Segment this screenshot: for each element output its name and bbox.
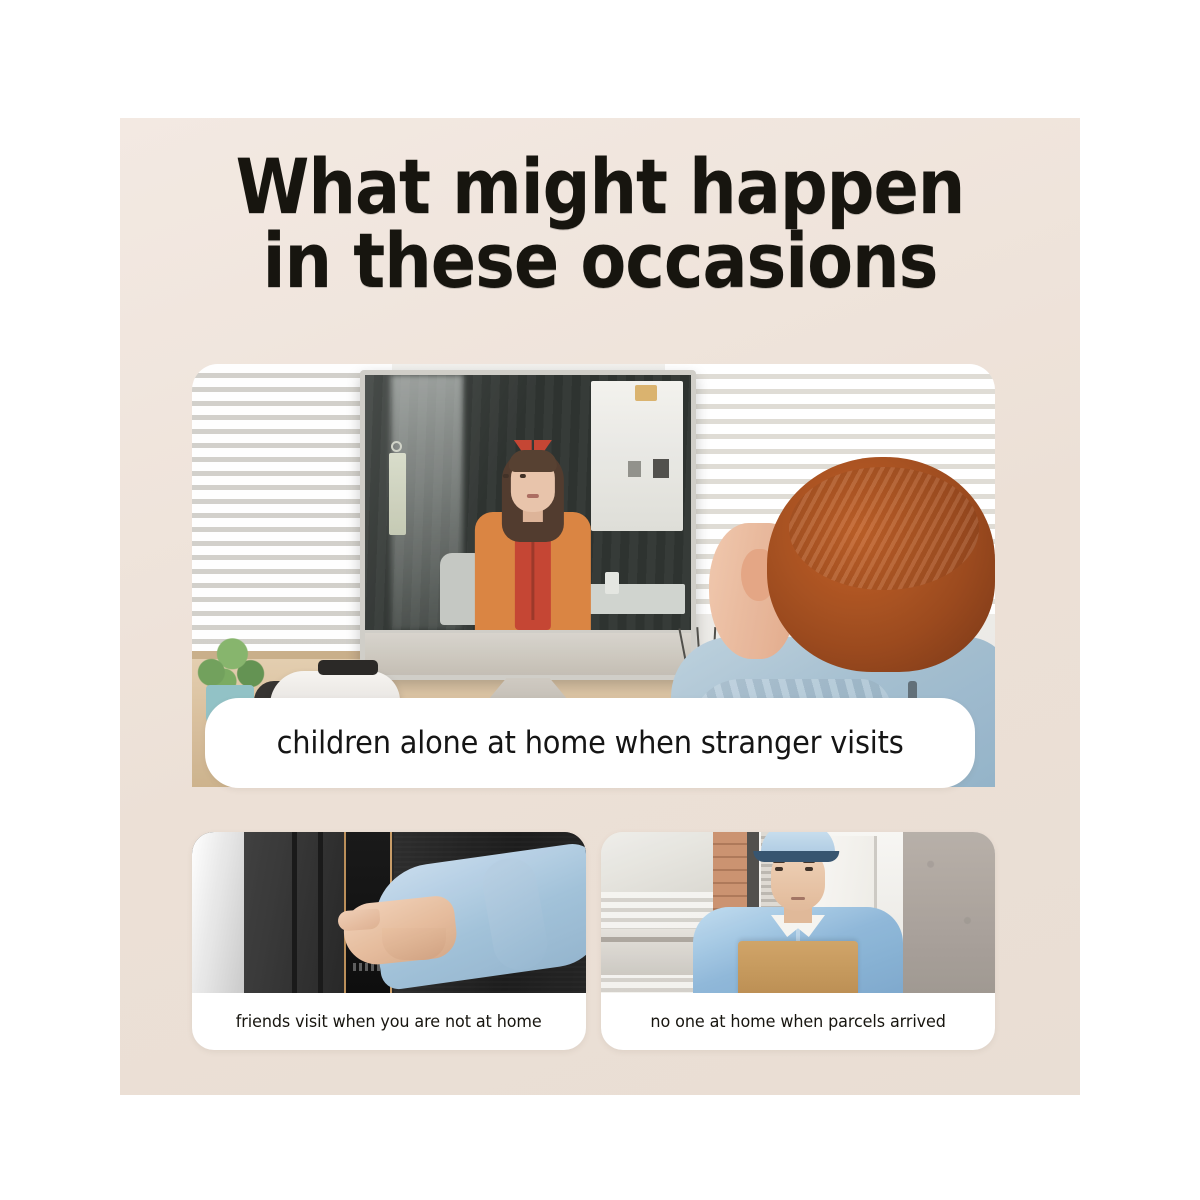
teacher-fringe — [509, 450, 557, 472]
secondary-caption-text-2: no one at home when parcels arrived — [650, 1012, 945, 1032]
hand-knuckles — [382, 928, 446, 960]
teacher-eye-left — [503, 474, 509, 478]
poster-panel: What might happen in these occasions — [120, 118, 1080, 1095]
secondary-caption-strip: no one at home when parcels arrived — [601, 993, 995, 1050]
courier-eye-left — [775, 867, 783, 871]
secondary-card-friends-visit: friends visit when you are not at home — [192, 832, 586, 1050]
boy-red-hair — [767, 457, 995, 672]
teacher-figure — [472, 440, 594, 630]
courier-mouth — [791, 897, 805, 900]
courier-figure — [683, 832, 913, 993]
whiteboard-picture-1 — [628, 461, 641, 477]
whiteboard-note — [635, 385, 657, 401]
page-title: What might happen in these occasions — [178, 150, 1023, 299]
secondary-caption-text-1: friends visit when you are not at home — [236, 1012, 542, 1032]
courier-eye-right — [805, 867, 813, 871]
secondary-cards-row: friends visit when you are not at home — [192, 832, 995, 1050]
scene-doorbell-press — [192, 832, 586, 993]
featured-card-caption: children alone at home when stranger vis… — [205, 698, 975, 788]
classroom-cup — [605, 572, 619, 594]
vr-headset-top-module — [318, 660, 378, 675]
monitor-bezel-bottom — [365, 633, 691, 675]
poster-root: What might happen in these occasions — [0, 0, 1200, 1200]
hanging-cloth — [389, 453, 406, 535]
scene-courier-delivery — [601, 832, 995, 993]
stone-wall-right — [903, 832, 995, 993]
succulent-leaves-large — [196, 629, 266, 691]
courier-cap-brim — [753, 851, 839, 862]
featured-caption-text: children alone at home when stranger vis… — [277, 725, 904, 761]
wall-left-light — [192, 832, 244, 993]
secondary-card-parcel-delivery: no one at home when parcels arrived — [601, 832, 995, 1050]
door-groove-2 — [318, 832, 323, 993]
monitor-screen — [365, 375, 691, 630]
cardboard-parcel — [738, 941, 858, 993]
page-title-line-2: in these occasions — [178, 224, 1023, 298]
wall-hook — [391, 441, 402, 452]
classroom-whiteboard — [591, 381, 683, 531]
secondary-caption-strip: friends visit when you are not at home — [192, 993, 586, 1050]
whiteboard-picture-2 — [653, 459, 669, 478]
teacher-eye-right — [520, 474, 526, 478]
door-groove-1 — [292, 832, 297, 993]
index-finger — [337, 909, 380, 932]
computer-monitor — [360, 370, 696, 680]
teacher-mouth — [527, 494, 539, 498]
